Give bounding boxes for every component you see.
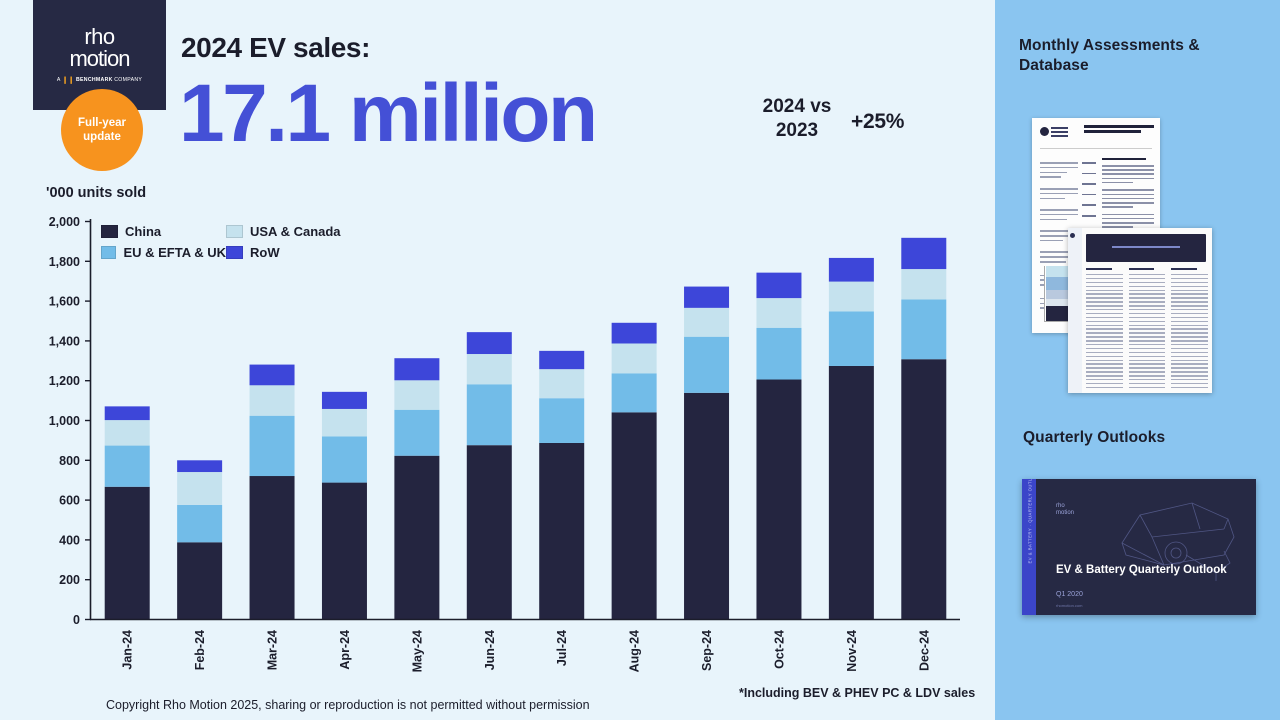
bar-segment bbox=[467, 384, 512, 445]
bar-segment bbox=[322, 409, 367, 436]
chart-legend: China USA & Canada EU & EFTA & UK RoW bbox=[101, 224, 401, 260]
x-tick-label: Aug-24 bbox=[628, 630, 642, 672]
bar-segment bbox=[829, 258, 874, 282]
x-tick-label: Jun-24 bbox=[483, 630, 497, 670]
x-tick-label: Feb-24 bbox=[193, 630, 207, 670]
quarterly-outlook-thumbnail[interactable]: EV & BATTERY · QUARTERLY OUTLOOK rhomoti… bbox=[1022, 479, 1256, 615]
bar-segment bbox=[322, 436, 367, 482]
panel-heading-quarterly-outlooks: Quarterly Outlooks bbox=[1023, 428, 1263, 448]
outlook-footer: rhomotion.com bbox=[1056, 603, 1082, 608]
bar-segment bbox=[105, 420, 150, 445]
outlook-subtitle: Q1 2020 bbox=[1056, 591, 1083, 598]
database-column bbox=[1171, 268, 1208, 391]
database-sidebar bbox=[1068, 228, 1082, 393]
outlook-spine: EV & BATTERY · QUARTERLY OUTLOOK bbox=[1022, 479, 1036, 615]
y-tick-label: 800 bbox=[59, 454, 80, 468]
bar-segment bbox=[829, 311, 874, 366]
bar-segment bbox=[684, 393, 729, 620]
footer-copyright: Copyright Rho Motion 2025, sharing or re… bbox=[106, 698, 590, 712]
bar-segment bbox=[177, 472, 222, 505]
x-tick-label: Jul-24 bbox=[555, 630, 569, 666]
legend-swatch-icon bbox=[226, 246, 243, 259]
bar-segment bbox=[394, 380, 439, 409]
legend-swatch-icon bbox=[101, 225, 118, 238]
y-tick-label: 1,400 bbox=[49, 334, 80, 348]
legend-swatch-icon bbox=[101, 246, 116, 259]
bar-segment bbox=[756, 298, 801, 328]
bar-segment bbox=[901, 238, 946, 269]
bar-segment bbox=[177, 460, 222, 472]
y-tick-label: 1,800 bbox=[49, 255, 80, 269]
bar-segment bbox=[467, 332, 512, 354]
bar-segment bbox=[394, 358, 439, 380]
outlook-title: EV & Battery Quarterly Outlook bbox=[1056, 563, 1227, 577]
bar-segment bbox=[612, 323, 657, 344]
legend-label: USA & Canada bbox=[250, 224, 341, 239]
bar-segment bbox=[756, 380, 801, 620]
report-logo-icon bbox=[1040, 126, 1070, 138]
x-tick-label: Mar-24 bbox=[266, 630, 280, 670]
x-tick-label: Jan-24 bbox=[121, 630, 135, 670]
x-tick-label: Apr-24 bbox=[338, 630, 352, 670]
bar-segment bbox=[250, 365, 295, 386]
x-tick-label: Oct-24 bbox=[772, 630, 786, 669]
database-column bbox=[1129, 268, 1166, 391]
bar-segment bbox=[322, 483, 367, 620]
y-tick-label: 2,000 bbox=[49, 215, 80, 229]
bar-segment bbox=[684, 287, 729, 308]
legend-label: EU & EFTA & UK bbox=[123, 245, 226, 260]
bar-segment bbox=[250, 416, 295, 476]
database-columns bbox=[1086, 268, 1208, 391]
footer-note: *Including BEV & PHEV PC & LDV sales bbox=[739, 686, 975, 700]
bar-segment bbox=[612, 373, 657, 412]
database-header-bar bbox=[1086, 234, 1206, 262]
y-tick-label: 1,600 bbox=[49, 295, 80, 309]
bar-segment bbox=[105, 487, 150, 620]
x-tick-label: May-24 bbox=[410, 630, 424, 672]
bar-segment bbox=[539, 398, 584, 443]
panel-heading-monthly-assessments: Monthly Assessments & Database bbox=[1019, 36, 1249, 77]
bar-segment bbox=[250, 476, 295, 619]
bar-segment bbox=[612, 412, 657, 619]
full-year-update-badge: Full-year update bbox=[61, 89, 143, 171]
bar-segment bbox=[539, 443, 584, 620]
report-date-column bbox=[1082, 162, 1096, 226]
y-tick-label: 1,000 bbox=[49, 414, 80, 428]
y-tick-label: 1,200 bbox=[49, 374, 80, 388]
database-table-thumbnail[interactable] bbox=[1068, 228, 1212, 393]
bar-segment bbox=[105, 446, 150, 487]
bar-segment bbox=[539, 369, 584, 398]
database-logo-icon bbox=[1070, 233, 1080, 241]
bar-segment bbox=[394, 456, 439, 620]
bar-segment bbox=[612, 343, 657, 373]
x-tick-label: Nov-24 bbox=[845, 630, 859, 672]
bar-segment bbox=[901, 269, 946, 299]
legend-item-eu-efta-uk[interactable]: EU & EFTA & UK bbox=[101, 245, 226, 260]
bar-segment bbox=[250, 385, 295, 415]
y-tick-label: 0 bbox=[73, 613, 80, 627]
bar-segment bbox=[177, 542, 222, 619]
x-axis-labels: Jan-24Feb-24Mar-24Apr-24May-24Jun-24Jul-… bbox=[121, 630, 932, 672]
y-tick-label: 400 bbox=[59, 533, 80, 547]
outlook-spine-label: EV & BATTERY · QUARTERLY OUTLOOK bbox=[1028, 504, 1033, 564]
legend-label: RoW bbox=[250, 245, 280, 260]
outlook-logo: rhomotion bbox=[1056, 503, 1074, 517]
bar-segment bbox=[105, 406, 150, 420]
bar-segment bbox=[756, 273, 801, 298]
bar-segment bbox=[756, 328, 801, 380]
bar-segment bbox=[467, 445, 512, 619]
bar-segment bbox=[394, 410, 439, 456]
legend-label: China bbox=[125, 224, 161, 239]
bar-group bbox=[105, 238, 947, 620]
legend-item-row[interactable]: RoW bbox=[226, 245, 371, 260]
bar-segment bbox=[684, 337, 729, 393]
database-column bbox=[1086, 268, 1123, 391]
bar-segment bbox=[901, 359, 946, 619]
bar-segment bbox=[901, 300, 946, 360]
y-axis-ticks: 02004006008001,0001,2001,4001,6001,8002,… bbox=[49, 215, 91, 627]
divider bbox=[1040, 148, 1152, 149]
legend-item-usa-canada[interactable]: USA & Canada bbox=[226, 224, 371, 239]
bar-segment bbox=[539, 351, 584, 369]
legend-item-china[interactable]: China bbox=[101, 224, 226, 239]
bar-segment bbox=[322, 392, 367, 409]
bar-segment bbox=[684, 308, 729, 337]
bar-segment bbox=[829, 282, 874, 312]
y-tick-label: 200 bbox=[59, 573, 80, 587]
bar-segment bbox=[177, 505, 222, 542]
bar-segment bbox=[467, 354, 512, 384]
bar-segment bbox=[829, 366, 874, 620]
y-tick-label: 600 bbox=[59, 494, 80, 508]
x-tick-label: Sep-24 bbox=[700, 630, 714, 671]
ev-sales-stacked-bar-chart: 02004006008001,0001,2001,4001,6001,8002,… bbox=[0, 0, 1000, 720]
legend-swatch-icon bbox=[226, 225, 243, 238]
report-thumbnail-title bbox=[1084, 125, 1154, 135]
x-tick-label: Dec-24 bbox=[917, 630, 931, 671]
